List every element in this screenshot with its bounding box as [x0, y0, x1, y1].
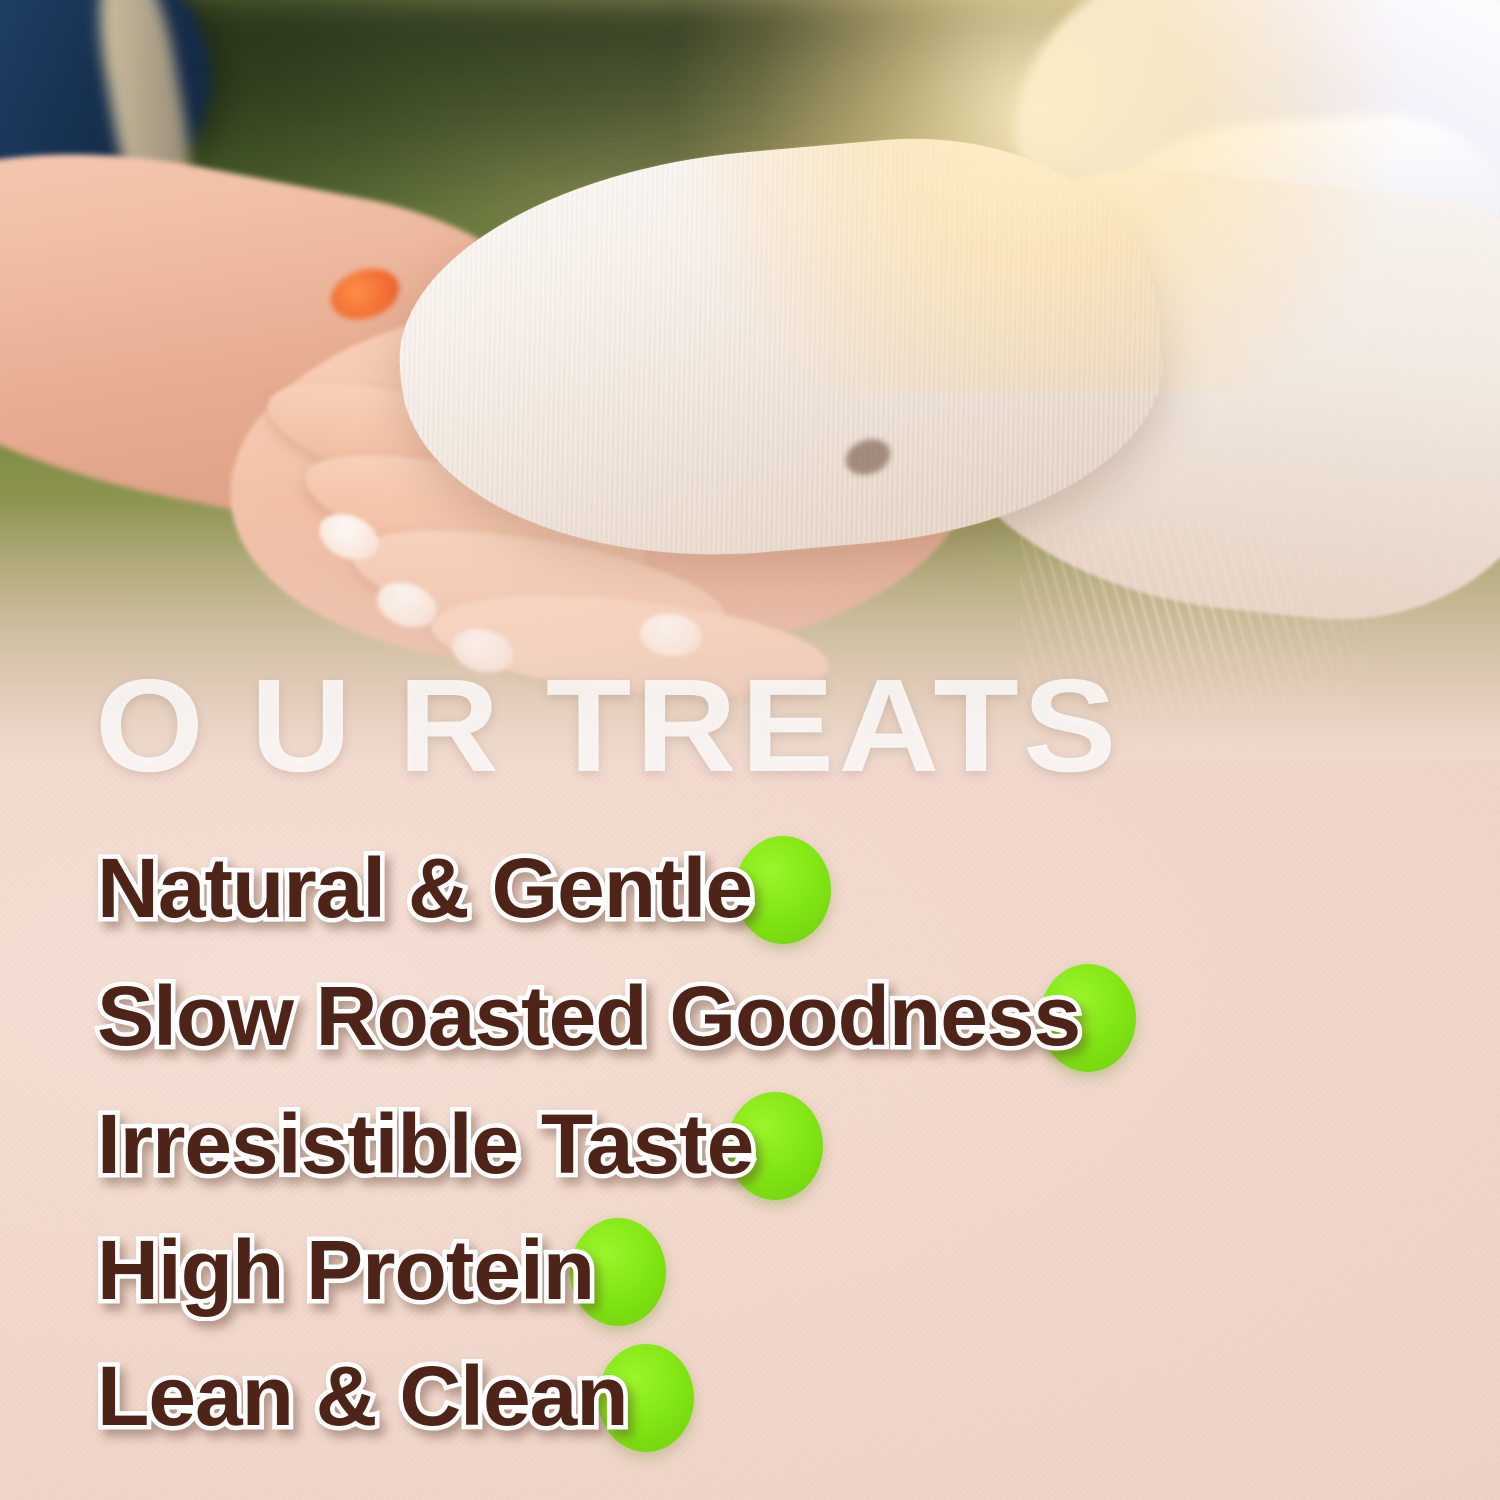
product-feature-banner: OURTREATS Natural & Gentle Slow Roasted … [0, 0, 1500, 1500]
page-title-word-2: TREATS [546, 652, 1121, 799]
feature-label: Natural & Gentle [97, 836, 752, 940]
feature-label: High Protein [97, 1218, 594, 1322]
page-title: OURTREATS [95, 660, 1121, 792]
feature-label: Slow Roasted Goodness [97, 964, 1080, 1068]
feature-label: Lean & Clean [97, 1344, 628, 1448]
feature-label: Irresistible Taste [97, 1092, 753, 1196]
page-title-word-1: OUR [95, 652, 546, 799]
